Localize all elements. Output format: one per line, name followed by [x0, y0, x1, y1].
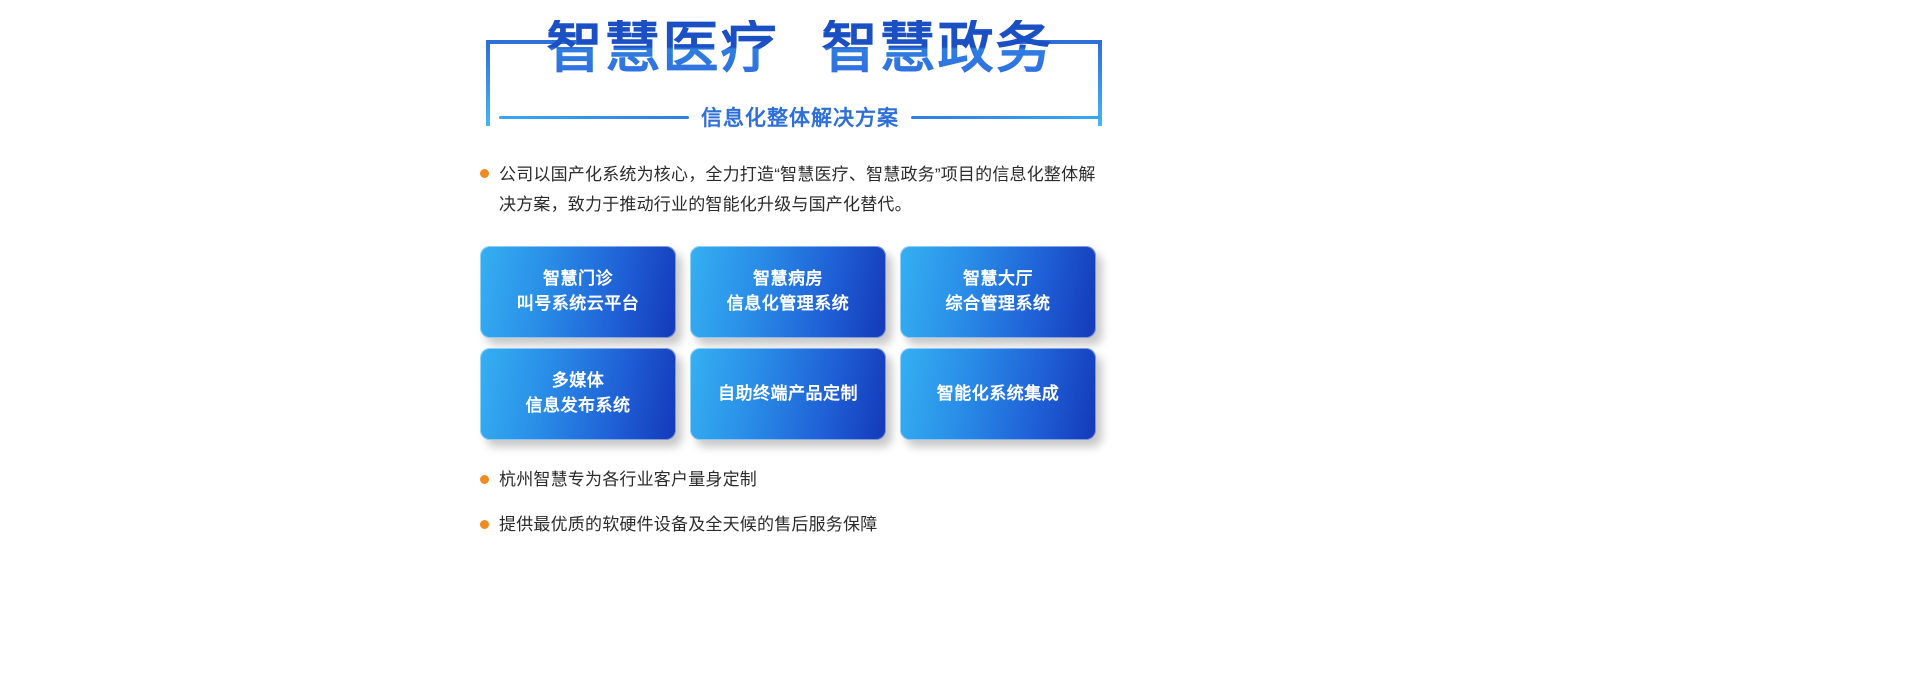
intro-text: 公司以国产化系统为核心，全力打造“智慧医疗、智慧政务”项目的信息化整体解决方案，… [499, 160, 1110, 220]
subtitle-row: 信息化整体解决方案 [480, 102, 1120, 132]
card-line-2: 信息发布系统 [526, 396, 631, 415]
card-label: 智慧大厅综合管理系统 [946, 267, 1051, 316]
card-line-1: 多媒体 [552, 371, 605, 390]
title-block: 智慧医疗 智慧政务 信息化整体解决方案 [480, 0, 1120, 140]
solution-card[interactable]: 自助终端产品定制 [690, 348, 886, 440]
solution-card[interactable]: 多媒体信息发布系统 [480, 348, 676, 440]
solution-card[interactable]: 智慧病房信息化管理系统 [690, 246, 886, 338]
card-label: 智能化系统集成 [937, 382, 1060, 407]
subtitle-rule-left [499, 116, 689, 119]
footer-bullet-item: 提供最优质的软硬件设备及全天候的售后服务保障 [480, 511, 1110, 538]
footer-bullet-text: 杭州智慧专为各行业客户量身定制 [499, 466, 757, 493]
card-line-1: 智慧病房 [753, 269, 823, 288]
card-line-2: 叫号系统云平台 [517, 294, 640, 313]
solution-card[interactable]: 智慧门诊叫号系统云平台 [480, 246, 676, 338]
card-label: 智慧病房信息化管理系统 [727, 267, 850, 316]
main-title: 智慧医疗 智慧政务 [480, 20, 1120, 76]
banner-content: 智慧医疗 智慧政务 信息化整体解决方案 公司以国产化系统为核心，全力打造“智慧医… [480, 0, 1120, 680]
footer-bullet-text: 提供最优质的软硬件设备及全天候的售后服务保障 [499, 511, 877, 538]
title-right-text: 智慧政务 [821, 20, 1053, 76]
card-line-1: 自助终端产品定制 [718, 384, 858, 403]
card-line-1: 智慧门诊 [543, 269, 613, 288]
title-left-text: 智慧医疗 [547, 20, 779, 76]
solution-card[interactable]: 智能化系统集成 [900, 348, 1096, 440]
subtitle-rule-right [911, 116, 1101, 119]
subtitle-text: 信息化整体解决方案 [701, 102, 899, 132]
card-line-1: 智慧大厅 [963, 269, 1033, 288]
solution-card-grid: 智慧门诊叫号系统云平台 智慧病房信息化管理系统 智慧大厅综合管理系统 多媒体信息… [480, 246, 1096, 440]
card-label: 自助终端产品定制 [718, 382, 858, 407]
promo-banner: 智慧医疗 智慧政务 信息化整体解决方案 公司以国产化系统为核心，全力打造“智慧医… [0, 0, 1920, 680]
card-line-1: 智能化系统集成 [937, 384, 1060, 403]
card-label: 智慧门诊叫号系统云平台 [517, 267, 640, 316]
footer-bullet-list: 杭州智慧专为各行业客户量身定制 提供最优质的软硬件设备及全天候的售后服务保障 [480, 466, 1110, 556]
solution-card[interactable]: 智慧大厅综合管理系统 [900, 246, 1096, 338]
bullet-dot-icon [480, 520, 489, 529]
bullet-dot-icon [480, 169, 489, 178]
bullet-dot-icon [480, 475, 489, 484]
footer-bullet-item: 杭州智慧专为各行业客户量身定制 [480, 466, 1110, 493]
card-line-2: 信息化管理系统 [727, 294, 850, 313]
card-line-2: 综合管理系统 [946, 294, 1051, 313]
card-label: 多媒体信息发布系统 [526, 369, 631, 418]
intro-paragraph: 公司以国产化系统为核心，全力打造“智慧医疗、智慧政务”项目的信息化整体解决方案，… [480, 160, 1110, 220]
